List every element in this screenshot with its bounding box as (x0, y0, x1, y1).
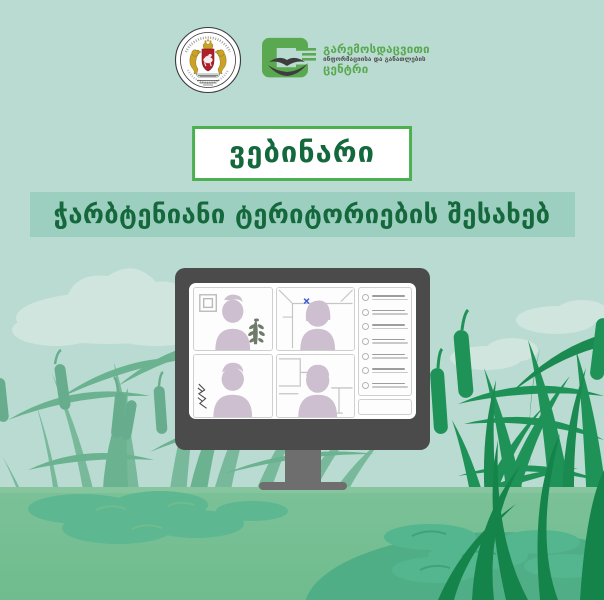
participant-status-line (372, 386, 408, 388)
video-tiles-row-top (193, 287, 355, 351)
list-item[interactable] (362, 307, 408, 318)
list-item[interactable] (362, 292, 408, 303)
participant-name-line (372, 324, 405, 326)
participant-status-line (372, 372, 408, 374)
eiec-logo-text: გარემოსდაცვითი ინფორმაციისა და განათლები… (323, 44, 430, 75)
monitor-neck (285, 450, 321, 486)
sidebar-column (358, 287, 412, 415)
participant-status-line (372, 299, 408, 301)
video-tile-top-left[interactable] (193, 287, 273, 351)
webinar-title-badge: ვებინარი (192, 126, 412, 181)
monitor-bezel (175, 268, 430, 450)
list-item[interactable] (362, 351, 408, 362)
eiec-logo-mark-icon (260, 34, 316, 86)
webinar-title-text: ვებინარი (229, 138, 375, 167)
participant-status-line (372, 357, 408, 359)
participant-name-line (372, 339, 405, 341)
avatar (362, 353, 369, 360)
avatar (362, 382, 369, 389)
monitor-illustration (175, 268, 430, 493)
eiec-logo-line1: გარემოსდაცვითი (323, 44, 430, 56)
monitor-base (259, 482, 347, 490)
participant-name-line (372, 295, 405, 297)
georgian-state-coat-of-arms-seal (174, 26, 242, 94)
avatar (362, 309, 369, 316)
subtitle-text: ჭარბტენიანი ტერიტორიების შესახებ (0, 192, 604, 237)
participant-status-line (372, 342, 408, 344)
participant-name-line (372, 368, 405, 370)
chat-input-box[interactable] (358, 399, 412, 415)
participant-status-line (372, 313, 408, 315)
participant-name-line (372, 310, 405, 312)
list-item[interactable] (362, 321, 408, 332)
video-tile-bottom-left[interactable] (193, 354, 273, 418)
eiec-logo: გარემოსდაცვითი ინფორმაციისა და განათლები… (260, 34, 430, 86)
avatar (362, 323, 369, 330)
video-tile-top-right[interactable] (276, 287, 356, 351)
participant-name-line (372, 354, 405, 356)
header-logos-row: გარემოსდაცვითი ინფორმაციისა და განათლები… (0, 26, 604, 94)
list-item[interactable] (362, 365, 408, 376)
participants-list[interactable] (358, 287, 412, 396)
poster-canvas: გარემოსდაცვითი ინფორმაციისა და განათლები… (0, 0, 604, 600)
eiec-logo-line3: ცენტრი (323, 64, 430, 76)
video-call-screen (189, 283, 416, 419)
video-tiles-grid (193, 287, 355, 415)
list-item[interactable] (362, 336, 408, 347)
avatar (362, 367, 369, 374)
participant-status-line (372, 328, 408, 330)
list-item[interactable] (362, 380, 408, 391)
video-tiles-row-bottom (193, 354, 355, 418)
video-tile-bottom-right[interactable] (276, 354, 356, 418)
participant-name-line (372, 383, 405, 385)
avatar (362, 338, 369, 345)
avatar (362, 294, 369, 301)
